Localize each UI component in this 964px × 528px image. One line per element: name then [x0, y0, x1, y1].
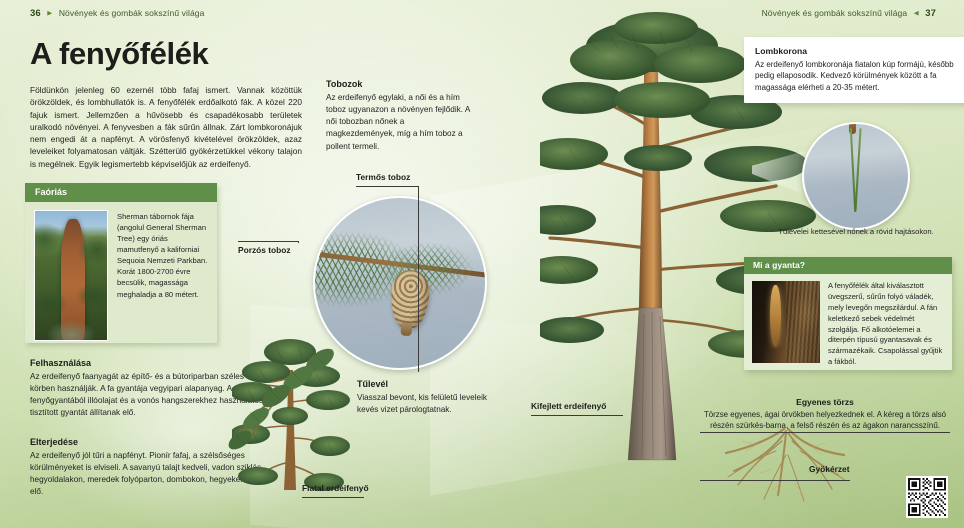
tobozok-text: Az erdeifenyő egylaki, a női és a hím to… — [326, 92, 474, 153]
needle-magnifier-circle — [802, 122, 910, 230]
termos-toboz-rule-v — [418, 186, 419, 372]
faorias-card-text: Sherman tábornok fája (angolul General S… — [117, 210, 209, 341]
elterjedese-text: Az erdeifenyő jól tűri a napfényt. Pioní… — [30, 450, 268, 499]
magnified-needle-pair — [848, 128, 864, 216]
running-head-left: 36►Növények és gombák sokszínű világa — [30, 8, 204, 19]
callout-termos-toboz: Termős toboz — [356, 172, 410, 182]
egyenes-torzs-heading: Egyenes törzs — [694, 397, 956, 407]
tulevel-section: Tűlevél Viasszal bevont, kis felületű le… — [357, 379, 507, 416]
needle-magnifier-caption: Tűlevelei kettesével nőnek a rövid hajtá… — [752, 227, 960, 236]
faorias-card: Faóriás Sherman tábornok fája (angolul G… — [25, 183, 217, 343]
callout-kifejlett-erdeifenyo: Kifejlett erdeifenyő — [531, 401, 606, 411]
felhasznalasa-section: Felhasználása Az erdeifenyő faanyagát az… — [30, 358, 268, 420]
faorias-card-header: Faóriás — [25, 183, 217, 202]
running-head-title-left: Növények és gombák sokszínű világa — [59, 8, 205, 18]
egyenes-torzs-rule — [700, 432, 950, 433]
fiatal-rule-h — [302, 497, 364, 498]
tulevel-text: Viasszal bevont, kis felületű leveleik k… — [357, 392, 507, 416]
egyenes-torzs-text: Törzse egyenes, ágai örvökben helyezkedn… — [694, 409, 956, 432]
gyanta-card-body: A fenyőfélék által kiválasztott üvegszer… — [744, 274, 952, 375]
running-head-title-right: Növények és gombák sokszínű világa — [762, 8, 908, 18]
page-number-right: 37 — [925, 8, 936, 19]
egyenes-torzs-section: Egyenes törzs Törzse egyenes, ágai örvök… — [694, 397, 956, 432]
tobozok-section: Tobozok Az erdeifenyő egylaki, a női és … — [326, 79, 474, 153]
lombkorona-heading: Lombkorona — [755, 46, 963, 56]
qr-code[interactable] — [906, 476, 948, 518]
tulevel-heading: Tűlevél — [357, 379, 507, 389]
lombkorona-box: Lombkorona Az erdeifenyő lombkoronája fi… — [744, 37, 964, 103]
elterjedese-heading: Elterjedése — [30, 437, 268, 447]
giant-sequoia-photo — [34, 210, 108, 341]
page-number-left: 36 — [30, 8, 41, 19]
faorias-card-body: Sherman tábornok fája (angolul General S… — [25, 202, 217, 349]
callout-gyokerzet: Gyökérzet — [809, 464, 850, 474]
kifejlett-rule-h — [531, 415, 623, 416]
cone-magnifier-circle — [313, 196, 487, 370]
textbook-spread: 36►Növények és gombák sokszínű világa Nö… — [0, 0, 964, 528]
running-head-right: Növények és gombák sokszínű világa◄37 — [762, 8, 936, 19]
gyokerzet-rule-h — [700, 480, 850, 481]
gyanta-card-text: A fenyőfélék által kiválasztott üvegszer… — [828, 281, 944, 368]
tobozok-heading: Tobozok — [326, 79, 474, 89]
intro-paragraph: Földünkön jelenleg 60 ezernél több fafaj… — [30, 84, 302, 170]
callout-porzos-toboz: Porzós toboz — [238, 245, 291, 255]
resin-drop-photo — [752, 281, 820, 363]
magnifier-leader-wedge — [752, 150, 808, 196]
gyanta-card-header: Mi a gyanta? — [744, 257, 952, 274]
porzos-toboz-rule-v — [298, 241, 299, 243]
elterjedese-section: Elterjedése Az erdeifenyő jól tűri a nap… — [30, 437, 268, 499]
callout-fiatal-erdeifenyo: Fiatal erdeifenyő — [302, 483, 369, 493]
felhasznalasa-heading: Felhasználása — [30, 358, 268, 368]
termos-toboz-rule-h — [356, 186, 418, 187]
magnified-needles-right — [373, 234, 487, 314]
porzos-toboz-rule-h — [238, 241, 298, 242]
page-title: A fenyőfélék — [30, 38, 208, 69]
arrow-right-icon: ► — [46, 9, 54, 18]
felhasznalasa-text: Az erdeifenyő faanyagát az építő- és a b… — [30, 371, 268, 420]
lombkorona-text: Az erdeifenyő lombkoronája fiatalon kúp … — [755, 59, 963, 93]
arrow-left-icon: ◄ — [912, 9, 920, 18]
gyanta-card: Mi a gyanta? A fenyőfélék által kiválasz… — [744, 257, 952, 370]
